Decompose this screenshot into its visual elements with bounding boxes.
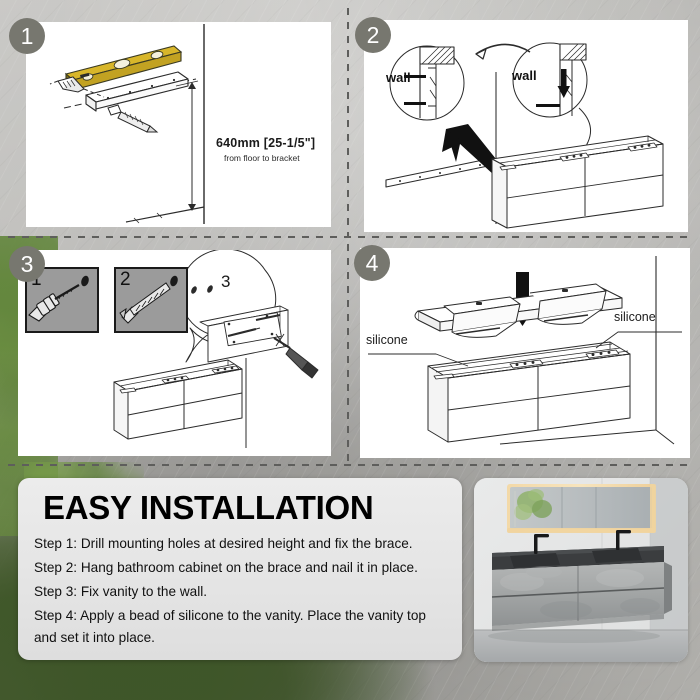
separator-horizontal-lower bbox=[8, 464, 692, 466]
page-title: EASY INSTALLATION bbox=[43, 491, 446, 525]
instruction-step-3: Step 3: Fix vanity to the wall. bbox=[34, 581, 446, 603]
separator-horizontal bbox=[8, 236, 692, 238]
panel-2-drawing bbox=[364, 20, 688, 232]
instruction-step-4: Step 4: Apply a bead of silicone to the … bbox=[34, 605, 446, 649]
instruction-step-1: Step 1: Drill mounting holes at desired … bbox=[34, 533, 446, 555]
wall-label-right: wall bbox=[512, 68, 537, 83]
silicone-label-left: silicone bbox=[366, 333, 408, 347]
step-badge-2: 2 bbox=[355, 17, 391, 53]
dimension-note: from floor to bracket bbox=[224, 153, 300, 163]
wall-label-left: wall bbox=[386, 70, 411, 85]
panel-1-drawing bbox=[26, 22, 331, 227]
installation-guide-page: 640mm [25-1/5"] from floor to bracket 1 bbox=[0, 0, 700, 700]
separator-vertical-bottom bbox=[347, 244, 349, 466]
callout-number-3: 3 bbox=[221, 272, 230, 292]
installed-vanity-photo bbox=[474, 478, 688, 662]
panel-step-3: 1 bbox=[18, 250, 331, 456]
panel-4-drawing bbox=[360, 248, 690, 458]
step-badge-4: 4 bbox=[354, 245, 390, 281]
step-badge-3: 3 bbox=[9, 246, 45, 282]
instruction-step-2: Step 2: Hang bathroom cabinet on the bra… bbox=[34, 557, 446, 579]
substep-box-2: 2 bbox=[114, 267, 188, 333]
step-badge-1: 1 bbox=[9, 18, 45, 54]
panel-step-1: 640mm [25-1/5"] from floor to bracket bbox=[26, 22, 331, 227]
silicone-label-right: silicone bbox=[614, 310, 656, 324]
instructions-card: EASY INSTALLATION Step 1: Drill mounting… bbox=[18, 478, 462, 660]
panel-step-4: silicone silicone bbox=[360, 248, 690, 458]
vanity-photo-illustration bbox=[474, 478, 688, 662]
panel-step-2: wall wall bbox=[364, 20, 688, 232]
dimension-label: 640mm [25-1/5"] bbox=[216, 136, 315, 150]
separator-vertical-top bbox=[347, 8, 349, 236]
wall-anchor-icon bbox=[116, 269, 186, 331]
